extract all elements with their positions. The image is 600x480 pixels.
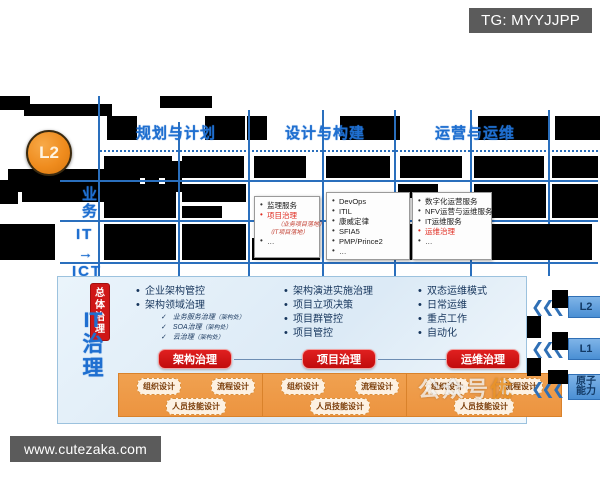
matrix-column-header-0: 规划与计划	[136, 122, 216, 143]
chip-org-design[interactable]: 组织设计	[137, 378, 181, 395]
redaction-block	[552, 156, 598, 178]
matrix-column-header-2: 运营与运维	[435, 122, 515, 143]
operations-card-list: 数字化运营服务 NFV运营与运维服务 IT运维服务 运维治理 …	[417, 197, 487, 247]
it-governance-title: IT 治 理	[70, 309, 116, 381]
chevron-left-icon: ❮❮❮	[531, 382, 562, 398]
list-item: 双态运维模式	[416, 285, 536, 299]
redaction-block	[527, 316, 541, 338]
list-item: 康威定律	[331, 217, 405, 227]
design-build-card-list: DevOps ITIL 康威定律 SFIA5 PMP/Prince2 …	[331, 197, 405, 257]
watermark-tag-top: TG: MYYJJPP	[469, 8, 592, 33]
list-item: 自动化	[416, 327, 536, 341]
list-item: 架构领域治理 业务服务治理（架构处） SOA治理（架构处） 云治理（架构处）	[134, 299, 294, 343]
list-item: 项目群管控	[282, 313, 422, 327]
architecture-governance-button[interactable]: 架构治理	[158, 349, 232, 369]
row-label-it: IT	[76, 226, 93, 243]
matrix-gridline-vertical	[248, 110, 250, 276]
list-item: …	[417, 237, 487, 247]
list-item: …	[331, 247, 405, 257]
redaction-block	[552, 290, 568, 308]
redaction-block	[555, 116, 600, 140]
planning-card-list: 监理服务 项目治理 （业务项目落地） （IT项目落地） …	[259, 201, 315, 247]
redaction-block	[527, 358, 541, 376]
redaction-block	[182, 206, 222, 218]
list-item: SFIA5	[331, 227, 405, 237]
operations-governance-column: 双态运维模式 日常运维 重点工作 自动化	[416, 285, 536, 341]
matrix-gridline-horizontal	[60, 180, 598, 182]
chip-org-design[interactable]: 组织设计	[281, 378, 325, 395]
list-item: 重点工作	[416, 313, 536, 327]
list-item: 项目治理 （业务项目落地） （IT项目落地）	[259, 211, 315, 237]
chip-process-design[interactable]: 流程设计	[355, 378, 399, 395]
project-design-panel: 组织设计 流程设计 人员技能设计	[262, 373, 418, 417]
redaction-block	[552, 184, 598, 218]
redaction-block	[247, 116, 267, 140]
operations-card[interactable]: 数字化运营服务 NFV运营与运维服务 IT运维服务 运维治理 …	[412, 192, 492, 260]
list-item: 架构演进实施治理	[282, 285, 422, 299]
list-item: 数字化运营服务	[417, 197, 487, 207]
redaction-block	[104, 184, 176, 218]
redaction-block	[552, 332, 568, 350]
list-item: 项目立项决策	[282, 299, 422, 313]
chip-skill-design[interactable]: 人员技能设计	[166, 398, 226, 415]
list-item: 项目管控	[282, 327, 422, 341]
operations-governance-button[interactable]: 运维治理	[446, 349, 520, 369]
row-label-business: 业务	[78, 186, 99, 220]
list-item: ITIL	[331, 207, 405, 217]
list-item: NFV运营与运维服务	[417, 207, 487, 217]
list-item: 监理服务	[259, 201, 315, 211]
redaction-block	[104, 156, 172, 178]
redaction-block	[474, 156, 544, 178]
project-governance-column: 架构演进实施治理 项目立项决策 项目群管控 项目管控	[282, 285, 422, 341]
list-item-sub: （IT项目落地）	[267, 229, 315, 237]
planning-card[interactable]: 监理服务 项目治理 （业务项目落地） （IT项目落地） …	[254, 196, 320, 258]
level-badge-l1: L1	[568, 338, 600, 360]
matrix-column-header-1: 设计与构建	[285, 122, 365, 143]
project-governance-button[interactable]: 项目治理	[302, 349, 376, 369]
chip-process-design[interactable]: 流程设计	[211, 378, 255, 395]
list-item: DevOps	[331, 197, 405, 207]
redaction-block	[182, 156, 244, 178]
list-subitem: 业务服务治理（架构处）	[145, 313, 294, 323]
chip-skill-design[interactable]: 人员技能设计	[310, 398, 370, 415]
list-item-sub: （业务项目落地）	[267, 221, 315, 229]
redaction-block	[400, 156, 462, 178]
row-label-arrow: →	[78, 245, 95, 262]
level-badge-l2: L2	[568, 296, 600, 318]
redaction-block	[326, 156, 390, 178]
redaction-block	[0, 224, 55, 260]
redaction-block	[0, 180, 18, 204]
list-item: 运维治理	[417, 227, 487, 237]
redaction-block	[182, 184, 246, 202]
redaction-block	[160, 96, 212, 108]
list-item: …	[259, 237, 315, 247]
architecture-governance-column: 企业架构管控 架构领域治理 业务服务治理（架构处） SOA治理（架构处） 云治理…	[134, 285, 294, 343]
list-subitem: SOA治理（架构处）	[145, 323, 294, 333]
redaction-block	[182, 224, 246, 260]
ghost-watermark: 公众号优	[418, 372, 514, 404]
watermark-url-bottom: www.cutezaka.com	[10, 436, 161, 462]
architecture-design-panel: 组织设计 流程设计 人员技能设计	[118, 373, 274, 417]
redaction-block	[254, 156, 306, 178]
redaction-block	[548, 370, 568, 384]
level-badge-atomic: 原子 能力	[568, 374, 600, 400]
matrix-gridline-horizontal	[60, 262, 598, 264]
matrix-dotted-rule	[100, 150, 598, 152]
matrix-gridline-vertical	[178, 122, 180, 276]
list-item: 企业架构管控	[134, 285, 294, 299]
slide-canvas: TG: MYYJJPP	[0, 0, 600, 480]
list-item: 日常运维	[416, 299, 536, 313]
redaction-block	[104, 224, 176, 260]
redaction-block	[107, 116, 137, 140]
list-item: IT运维服务	[417, 217, 487, 227]
design-build-card[interactable]: DevOps ITIL 康威定律 SFIA5 PMP/Prince2 …	[326, 192, 410, 260]
list-item: PMP/Prince2	[331, 237, 405, 247]
level-circle-l2: L2	[26, 130, 72, 176]
list-subitem: 云治理（架构处）	[145, 333, 294, 343]
